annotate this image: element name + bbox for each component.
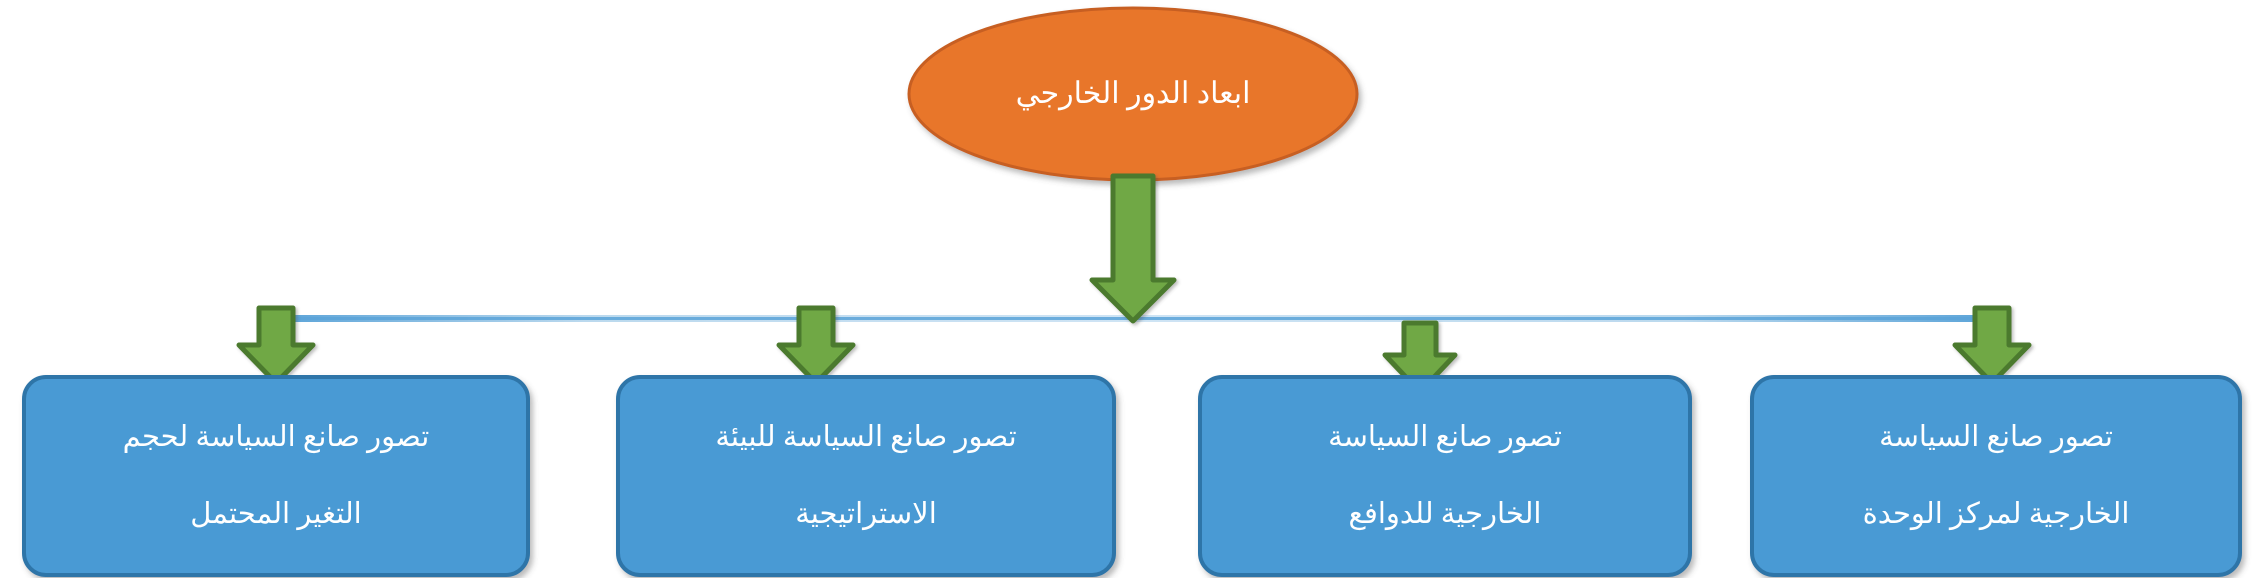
- leaf-box-2[interactable]: [1200, 377, 1690, 575]
- diagram-canvas: ابعاد الدور الخارجي تصور صانع السياسة لح…: [0, 0, 2254, 578]
- leaf-box-4[interactable]: [24, 377, 528, 575]
- arrow-down-icon-root: [1092, 176, 1174, 321]
- root-node-ellipse[interactable]: [909, 8, 1357, 180]
- diagram-shapes-layer: [0, 0, 2254, 578]
- leaf-box-3[interactable]: [618, 377, 1114, 575]
- leaf-box-1[interactable]: [1752, 377, 2240, 575]
